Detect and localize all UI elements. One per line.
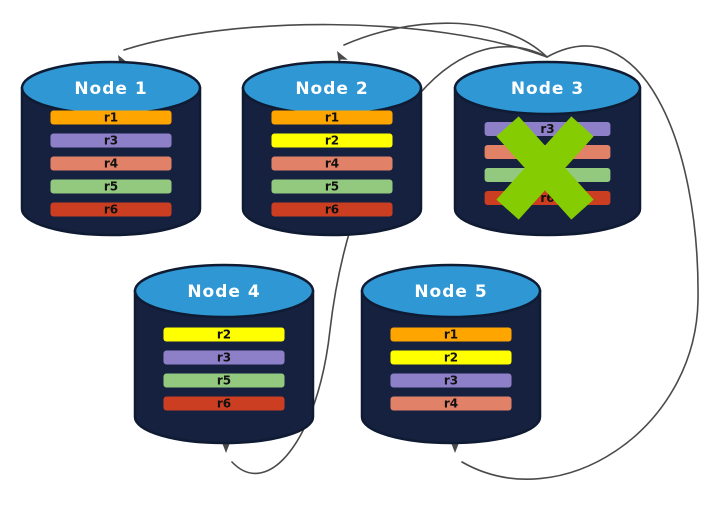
diagram-canvas: Node 1r1r3r4r5r6Node 2r1r2r4r5r6Node 3r3… bbox=[0, 0, 708, 508]
failure-x-icon bbox=[496, 116, 593, 219]
failure-marker-layer bbox=[0, 0, 708, 508]
